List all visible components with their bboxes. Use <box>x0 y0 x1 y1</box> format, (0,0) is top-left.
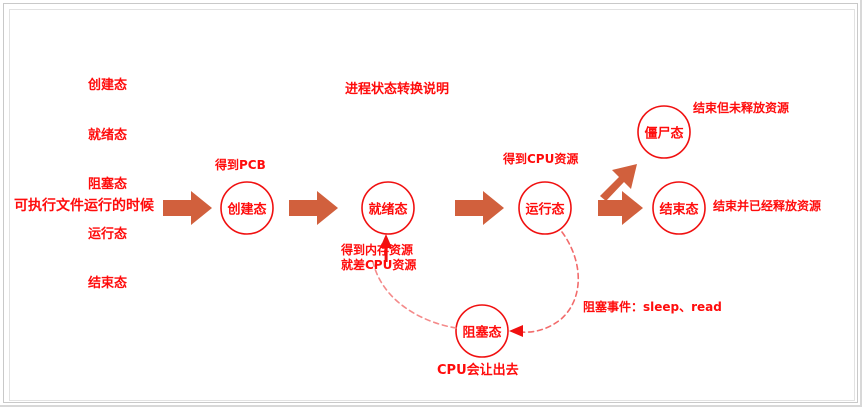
node-circle-zombie <box>638 106 690 158</box>
label-blocked-caption: CPU会让出去 <box>437 363 519 379</box>
diagram-title: 进程状态转换说明 <box>345 82 449 98</box>
arrow-ready-to-running <box>455 191 504 225</box>
node-circle-end <box>653 182 705 234</box>
label-get-pcb: 得到PCB <box>215 158 266 173</box>
arrow-create-to-ready <box>289 191 338 225</box>
arrow-running-to-zombie <box>600 164 637 201</box>
node-circle-ready <box>362 182 414 234</box>
label-zombie-description: 结束但未释放资源 <box>693 101 789 116</box>
legend-item-3: 运行态 <box>88 227 127 244</box>
legend-item-4: 结束态 <box>88 276 127 293</box>
label-block-event: 阻塞事件：sleep、read <box>583 300 722 315</box>
diagram-canvas: 创建态 就绪态 阻塞态 运行态 结束态 进程状态转换说明 创建态 就绪态 运行态… <box>0 0 864 409</box>
arrow-exec-to-create <box>163 191 212 225</box>
state-legend-list: 创建态 就绪态 阻塞态 运行态 结束态 <box>88 45 127 326</box>
label-exec-start: 可执行文件运行的时候 <box>14 198 154 215</box>
node-circle-running <box>519 182 571 234</box>
node-circle-create <box>221 182 273 234</box>
legend-item-1: 就绪态 <box>88 128 127 145</box>
label-get-cpu: 得到CPU资源 <box>503 152 578 167</box>
legend-item-2: 阻塞态 <box>88 177 127 194</box>
legend-item-0: 创建态 <box>88 78 127 95</box>
dashed-edge-running-to-blocked <box>509 232 578 337</box>
node-circle-blocked <box>456 305 508 357</box>
label-end-description: 结束并已经释放资源 <box>713 199 821 214</box>
label-get-memory: 得到内存资源 就差CPU资源 <box>341 243 416 273</box>
